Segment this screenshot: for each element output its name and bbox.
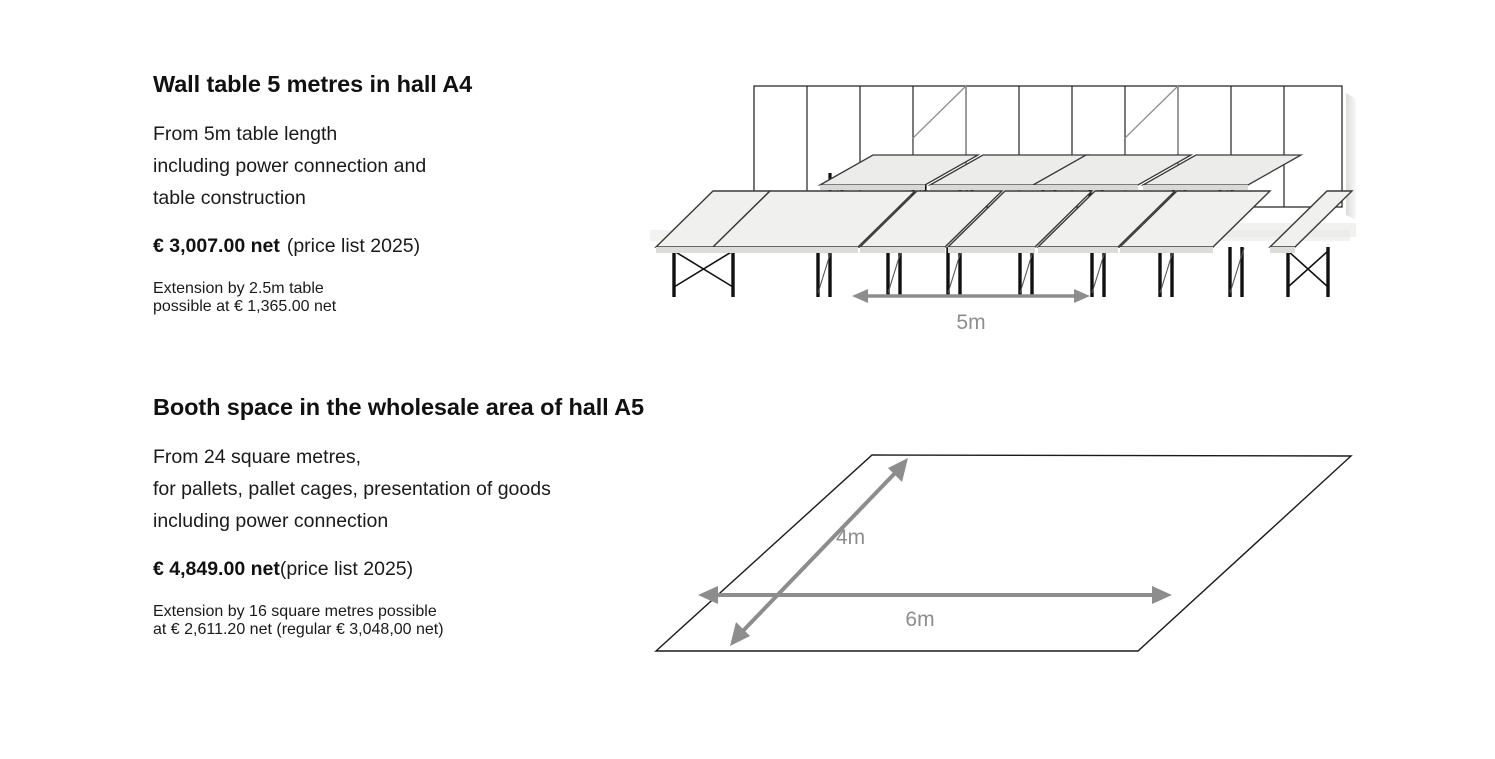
wall-table-diagram: 5m — [630, 55, 1370, 345]
arrowhead-left-icon — [852, 289, 868, 303]
description-line: From 5m table length — [153, 118, 713, 150]
table-legs-front — [674, 247, 1328, 297]
extension-line: possible at € 1,365.00 net — [153, 298, 336, 315]
floor-area-outline — [656, 455, 1351, 651]
wall-table-description: From 5m table length including power con… — [153, 118, 713, 214]
description-line: including power connection — [153, 505, 713, 537]
page-title-wall-table: Wall table 5 metres in hall A4 — [153, 70, 713, 98]
description-line: for pallets, pallet cages, presentation … — [153, 473, 713, 505]
price-note: (price list 2025) — [280, 558, 413, 580]
table-edge-rear — [820, 185, 1248, 190]
dimension-label-6m: 6m — [905, 608, 934, 631]
booth-space-diagram: 4m 6m — [630, 420, 1390, 680]
section-wall-table: Wall table 5 metres in hall A4 From 5m t… — [0, 0, 1495, 380]
description-line: table construction — [153, 182, 713, 214]
section-booth-space: Booth space in the wholesale area of hal… — [0, 380, 1495, 759]
wall-table-price: € 3,007.00 net(price list 2025) — [153, 232, 713, 260]
booth-space-price: € 4,849.00 net(price list 2025) — [153, 555, 713, 583]
price-amount: € 4,849.00 net — [153, 558, 280, 580]
dimension-label-5m: 5m — [956, 311, 985, 334]
price-amount: € 3,007.00 net — [153, 235, 280, 257]
exhibition-options-page: Wall table 5 metres in hall A4 From 5m t… — [0, 0, 1495, 759]
dimension-5m: 5m — [852, 289, 1090, 334]
price-note: (price list 2025) — [280, 235, 420, 257]
extension-line: Extension by 2.5m table — [153, 280, 324, 297]
arrowhead-left-icon — [698, 586, 718, 604]
dimension-label-4m: 4m — [836, 526, 865, 549]
table-edge-front — [656, 247, 1295, 253]
front-table-row — [656, 191, 1352, 297]
description-line: including power connection and — [153, 150, 713, 182]
arrowhead-right-icon — [1074, 289, 1090, 303]
description-line: From 24 square metres, — [153, 441, 713, 473]
page-title-booth-space: Booth space in the wholesale area of hal… — [153, 393, 713, 421]
booth-space-text-block: Booth space in the wholesale area of hal… — [153, 393, 713, 655]
extension-line: at € 2,611.20 net (regular € 3,048,00 ne… — [153, 621, 444, 638]
table-top-rear — [820, 155, 1301, 185]
extension-line: Extension by 16 square metres possible — [153, 603, 437, 620]
booth-space-description: From 24 square metres, for pallets, pall… — [153, 441, 713, 537]
wall-table-text-block: Wall table 5 metres in hall A4 From 5m t… — [153, 70, 713, 332]
